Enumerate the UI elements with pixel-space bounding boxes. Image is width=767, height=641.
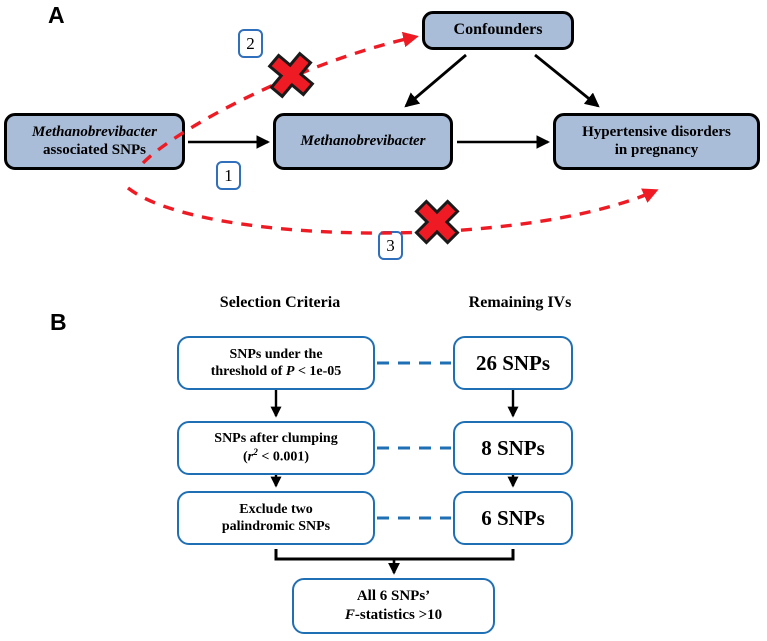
assumption-badge-1: 1 xyxy=(216,161,241,190)
node-exposure-label: Methanobrevibacter xyxy=(301,133,426,151)
criteria-step-1-line2-pre: threshold of xyxy=(211,364,286,379)
merge-bracket xyxy=(276,549,513,559)
node-outcome-line1: Hypertensive disorders xyxy=(582,124,731,140)
assumption-badge-3: 3 xyxy=(378,231,403,260)
node-exposure: Methanobrevibacter xyxy=(273,113,453,170)
criteria-step-1-line2-post: < 1e-05 xyxy=(294,364,341,379)
column-header-remaining-ivs: Remaining IVs xyxy=(450,294,590,312)
final-box-line2-ital: F xyxy=(345,607,355,623)
figure-container: A Methanobrevibacter associated SNPs Met… xyxy=(0,0,767,641)
criteria-step-2-line1: SNPs after clumping xyxy=(214,431,337,446)
criteria-step-1-line1: SNPs under the xyxy=(229,347,322,362)
node-snps-line1: Methanobrevibacter xyxy=(32,124,157,140)
final-result-box: All 6 SNPs’ F-statistics >10 xyxy=(292,578,495,634)
criteria-step-3-line2-post: palindromic SNPs xyxy=(222,519,330,534)
node-snps-exposure: Methanobrevibacter associated SNPs xyxy=(4,113,185,170)
final-box-line2-post: -statistics >10 xyxy=(355,607,442,623)
node-snps-line2: associated SNPs xyxy=(43,142,146,158)
node-outcome-line2: in pregnancy xyxy=(615,142,699,158)
node-confounders: Confounders xyxy=(422,11,574,50)
edge-confounders-to-outcome xyxy=(535,55,598,106)
column-header-selection-criteria: Selection Criteria xyxy=(200,294,360,312)
remaining-ivs-1: 26 SNPs xyxy=(453,336,573,390)
connector-overlay xyxy=(0,0,767,641)
node-outcome: Hypertensive disorders in pregnancy xyxy=(553,113,760,170)
criteria-step-1: SNPs under the threshold of P < 1e-05 xyxy=(177,336,375,390)
criteria-step-3: Exclude two palindromic SNPs xyxy=(177,491,375,545)
remaining-ivs-3: 6 SNPs xyxy=(453,491,573,545)
panel-a-label: A xyxy=(48,4,65,27)
remaining-ivs-2: 8 SNPs xyxy=(453,421,573,475)
criteria-step-2-line2-post: < 0.001) xyxy=(258,449,309,464)
blocked-x-mark-2 xyxy=(406,191,468,253)
panel-b-label: B xyxy=(50,311,67,334)
criteria-step-2: SNPs after clumping (r2 < 0.001) xyxy=(177,421,375,475)
edge-confounders-to-exposure xyxy=(406,55,466,106)
blocked-x-mark-1 xyxy=(260,44,322,106)
edge-snps-to-outcome-blocked xyxy=(128,188,655,233)
criteria-step-3-line1: Exclude two xyxy=(239,502,313,517)
assumption-badge-2: 2 xyxy=(238,29,263,58)
final-box-line1: All 6 SNPs’ xyxy=(357,588,430,604)
node-confounders-label: Confounders xyxy=(454,21,543,40)
